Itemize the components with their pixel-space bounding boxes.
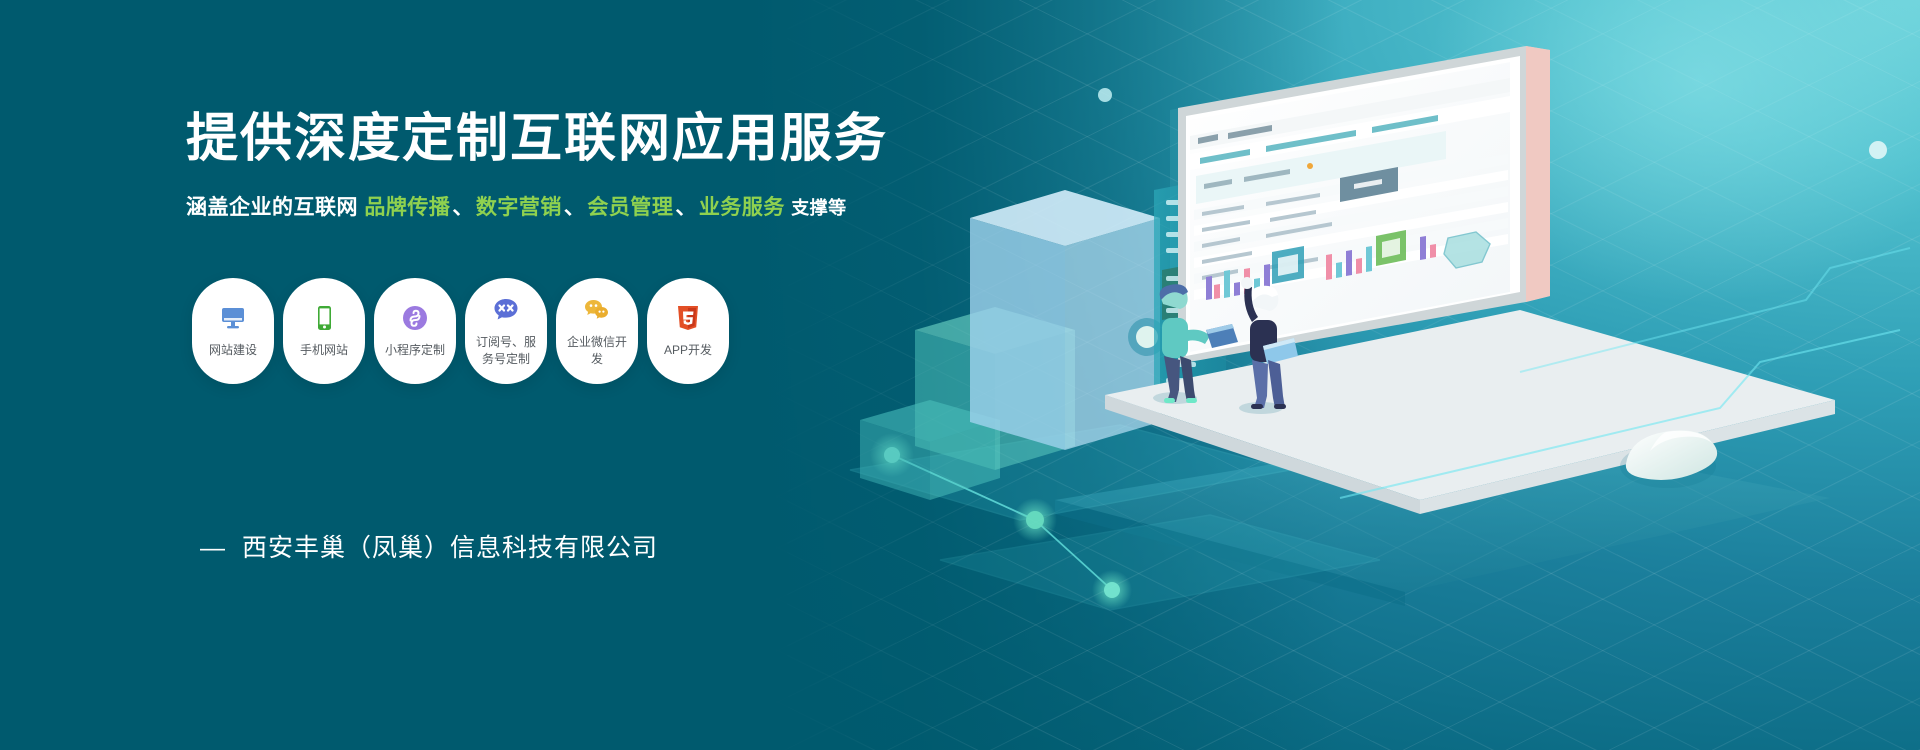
service-badge-mobile[interactable]: 手机网站: [283, 278, 365, 384]
wechat-bubbles-icon: [582, 295, 612, 325]
company-dash: —: [200, 534, 226, 562]
service-badge-label: 手机网站: [294, 342, 354, 358]
subtitle-keyword-3: 会员管理: [587, 196, 673, 219]
subtitle-sep-2: 、: [562, 196, 588, 219]
html5-icon: [673, 303, 703, 333]
service-badge-label: APP开发: [658, 342, 718, 358]
service-badge-label: 订阅号、服务号定制: [476, 334, 536, 366]
company-name: —西安丰巢（凤巢）信息科技有限公司: [200, 528, 658, 564]
subtitle-lead: 涵盖企业的互联网: [186, 196, 358, 219]
subtitle-keyword-4: 业务服务: [699, 196, 785, 219]
subtitle-keyword-2: 数字营销: [476, 196, 562, 219]
service-badge-label: 网站建设: [203, 342, 263, 358]
page-title: 提供深度定制互联网应用服务: [186, 110, 946, 170]
service-badge-label: 小程序定制: [385, 342, 445, 358]
service-badge-label: 企业微信开发: [567, 334, 627, 366]
mini-program-icon: [400, 303, 430, 333]
isometric-dashboard-illustration: [820, 0, 1920, 750]
monitor-icon: [218, 303, 248, 333]
service-badge-app[interactable]: APP开发: [647, 278, 729, 384]
service-badge-enterprise-wechat[interactable]: 企业微信开发: [556, 278, 638, 384]
company-name-text: 西安丰巢（凤巢）信息科技有限公司: [242, 534, 658, 562]
mobile-phone-icon: [309, 303, 339, 333]
wechat-chat-icon: [491, 295, 521, 325]
service-badge-wechat-official[interactable]: 订阅号、服务号定制: [465, 278, 547, 384]
subtitle-keyword-1: 品牌传播: [364, 196, 450, 219]
service-badge-list: 网站建设 手机网站 小程序定制: [192, 278, 729, 384]
service-badge-website[interactable]: 网站建设: [192, 278, 274, 384]
hero-banner: 提供深度定制互联网应用服务 涵盖企业的互联网 品牌传播、数字营销、会员管理、业务…: [0, 0, 1920, 750]
subtitle-tail: 支撑等: [791, 198, 847, 218]
subtitle: 涵盖企业的互联网 品牌传播、数字营销、会员管理、业务服务 支撑等: [186, 191, 946, 221]
hero-copy: 提供深度定制互联网应用服务 涵盖企业的互联网 品牌传播、数字营销、会员管理、业务…: [186, 110, 946, 221]
subtitle-sep-3: 、: [673, 196, 699, 219]
service-badge-miniprogram[interactable]: 小程序定制: [374, 278, 456, 384]
subtitle-sep-1: 、: [450, 196, 476, 219]
laptop-dashboard-screen: [1105, 46, 1835, 514]
